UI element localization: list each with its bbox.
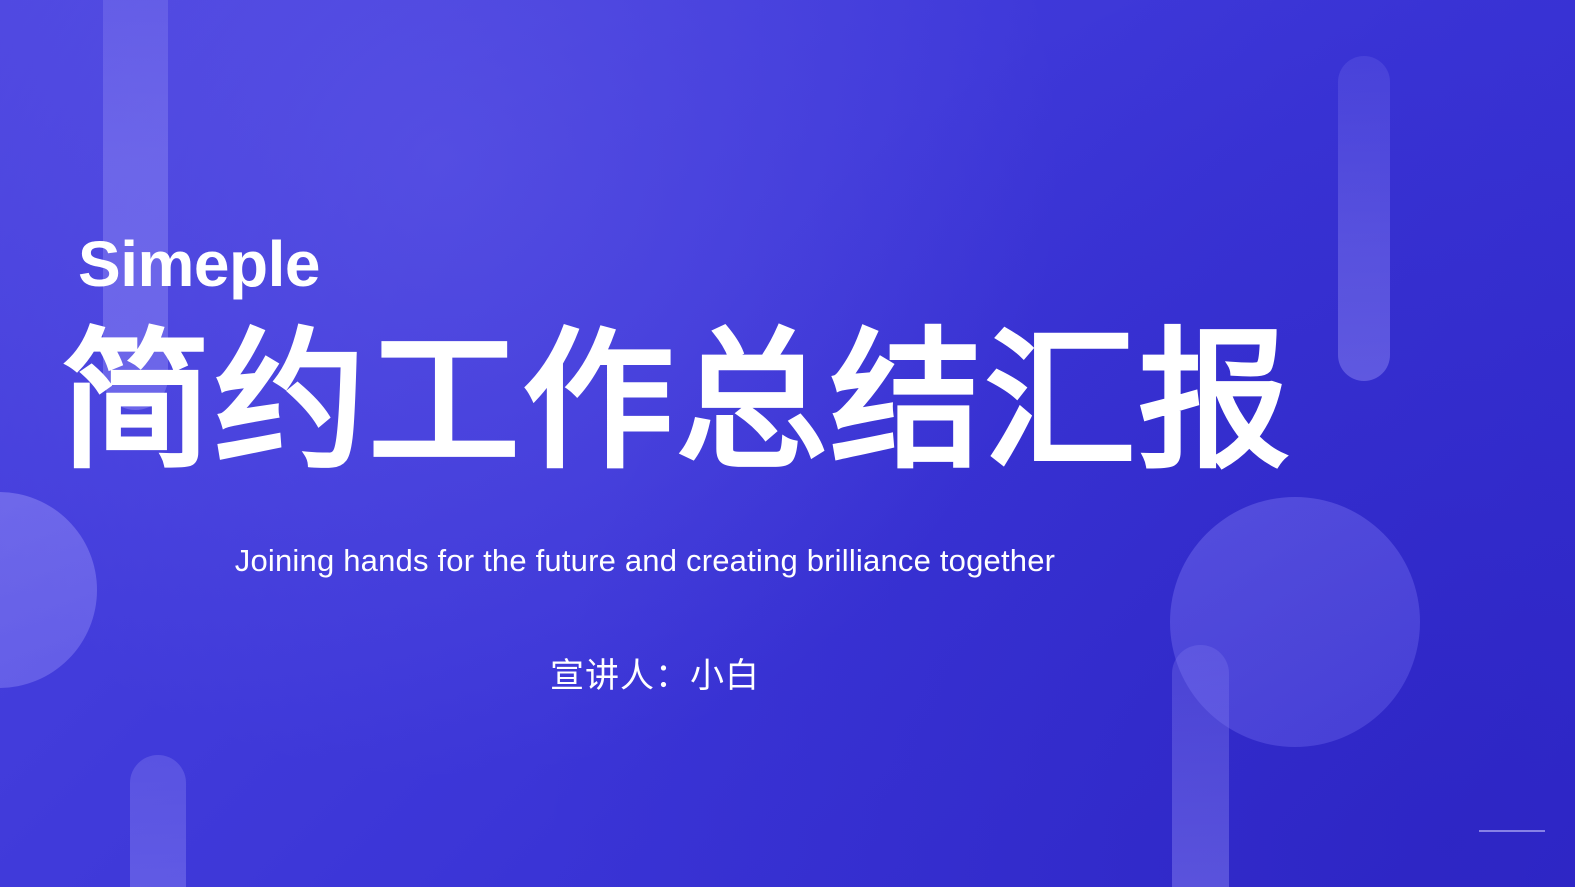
presentation-title-slide: Simeple 简约工作总结汇报 Joining hands for the f…	[0, 0, 1575, 887]
title-chinese: 简约工作总结汇报	[60, 322, 1292, 483]
presenter-name: 宣讲人：小白	[0, 648, 1310, 697]
subtitle-english: Joining hands for the future and creatin…	[0, 543, 1290, 579]
slide-text-layer: Simeple 简约工作总结汇报 Joining hands for the f…	[0, 0, 1575, 887]
title-english: Simeple	[78, 232, 320, 296]
